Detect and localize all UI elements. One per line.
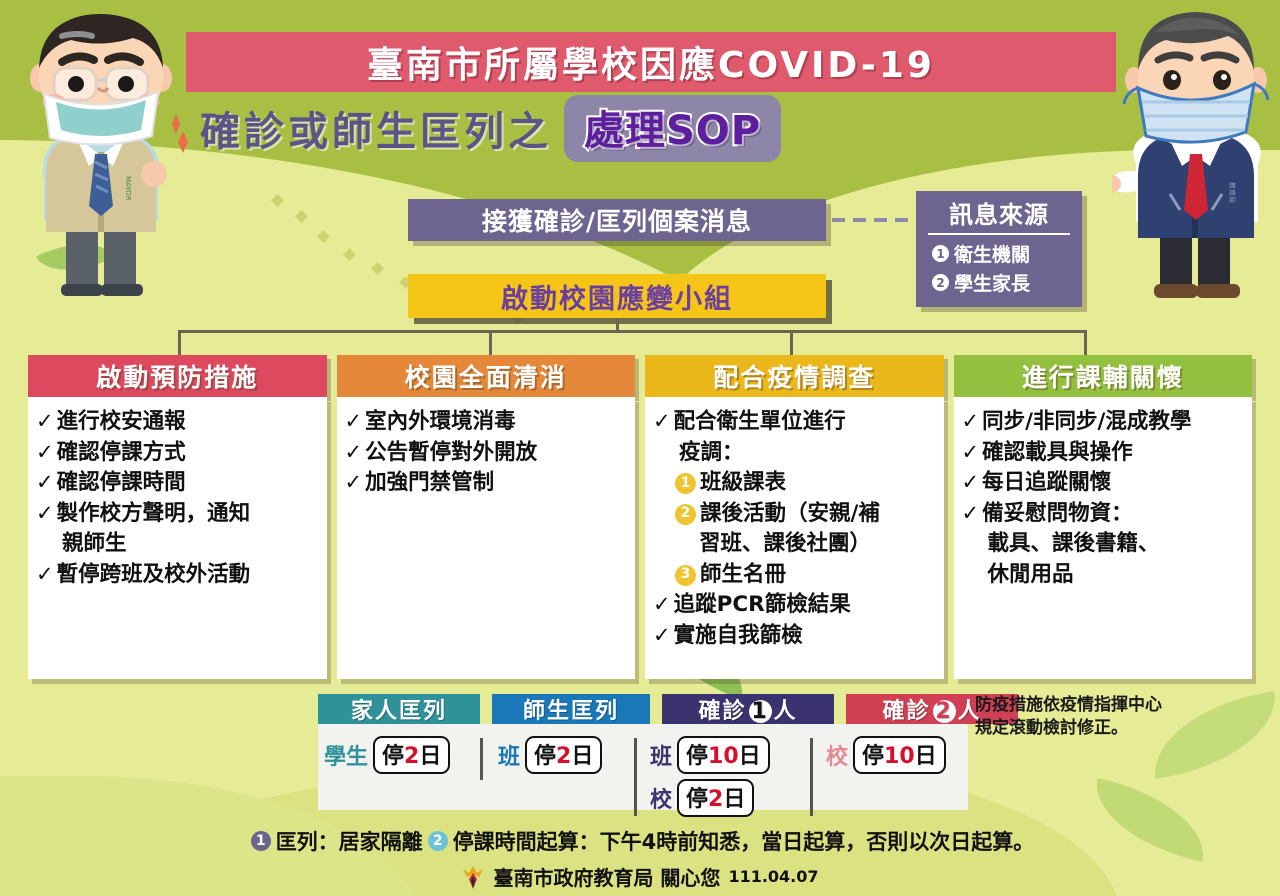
sop-column-2: 校園全面清消 ✓室內外環境消毒 ✓公告暫停對外開放 ✓加強門禁管制 [337,355,636,679]
dot-decoration [271,194,284,207]
quarantine-group-case2: 校 停10日 [826,736,946,774]
quarantine-row: 班 停2日 [498,736,602,774]
quarantine-row: 校 停10日 [826,736,946,774]
check-icon: ✓ [36,438,54,468]
dashed-connector [832,218,912,222]
sop-column-2-header-label: 校園全面清消 [405,358,567,394]
pill-prefix: 停 [862,744,884,769]
checklist-item-label: 實施自我篩檢 [674,621,803,652]
sop-column-4: 進行課輔關懷 ✓同步/非同步/混成教學 ✓確認載具與操作 ✓每日追蹤關懷 ✓備妥… [954,355,1253,679]
source-item-label: 衛生機關 [954,240,1030,267]
checklist-item: ✓每日追蹤關懷 [962,468,1247,499]
quarantine-row: 學生 停2日 [324,736,450,774]
check-icon: ✓ [653,621,671,651]
svg-text:MAYOR: MAYOR [124,176,132,201]
footer-org: 臺南市政府教育局 關心您 111.04.07 [0,862,1280,891]
check-icon: ✓ [653,590,671,620]
dash-segment [853,218,866,222]
quarantine-header-case1-label: 確診 [698,699,746,724]
checklist-item-label: 每日追蹤關懷 [982,468,1111,499]
checklist-item-label: 暫停跨班及校外活動 [57,560,251,591]
case-count-badge: 1 [749,700,772,723]
case-count-badge: 2 [933,700,956,723]
connector-vertical [790,330,793,355]
quarantine-group-case1: 班 停10日 校 停2日 [650,736,770,817]
subitem-label: 班級課表 [700,468,786,499]
quarantine-row-label: 校 [826,739,848,771]
suspension-pill: 停10日 [677,736,770,774]
quarantine-row-label: 校 [650,782,672,814]
footnote-number-2: 2 [428,831,448,851]
sop-column-3: 配合疫情調查 ✓配合衛生單位進行 疫調： 1班級課表 2課後活動（安親/補 習班… [645,355,944,679]
disclaimer-note-line: 防疫措施依疫情指揮中心 [975,694,1275,717]
checklist-item-label: 配合衛生單位進行 [674,407,846,438]
poster-root: MAYOR [0,0,1280,896]
checklist-item: ✓追蹤PCR篩檢結果 [653,590,938,621]
source-item-number: 1 [932,245,949,262]
poster-title-line1: 臺南市所屬學校因應COVID-19 [367,36,935,88]
dash-segment [832,218,845,222]
checklist-subitem: 2課後活動（安親/補 [653,499,938,530]
sop-column-4-header-label: 進行課輔關懷 [1022,358,1184,394]
flow-source-box: 訊息來源 1 衛生機關 2 學生家長 [916,191,1082,307]
suspension-pill: 停2日 [677,779,754,817]
pill-suffix: 日 [419,744,441,769]
source-divider [928,233,1070,235]
quarantine-header-case1-tail: 人 [774,699,798,724]
suspension-pill: 停10日 [853,736,946,774]
dot-decoration [295,210,308,223]
checklist-item-label: 同步/非同步/混成教學 [982,407,1191,438]
checklist-item: ✓加強門禁管制 [345,468,630,499]
checklist-item: ✓公告暫停對外開放 [345,438,630,469]
connector-horizontal [178,330,1086,333]
quarantine-table: 家人匡列 師生匡列 確診1人 確診2人 學生 停2日 班 停2日 [318,694,968,810]
subitem-number: 3 [675,565,696,586]
pill-prefix: 停 [534,744,556,769]
sop-column-3-header: 配合疫情調查 [645,355,944,397]
poster-title-banner: 臺南市所屬學校因應COVID-19 [186,32,1116,92]
checklist-item-label: 備妥慰問物資： [982,499,1133,530]
checklist-item-continuation: 親師生 [36,529,321,560]
checklist-item-label: 室內外環境消毒 [365,407,516,438]
quarantine-header-case2-label: 確診 [882,699,930,724]
pill-value: 2 [404,744,419,769]
flow-source-title: 訊息來源 [916,195,1082,233]
sop-column-2-body: ✓室內外環境消毒 ✓公告暫停對外開放 ✓加強門禁管制 [337,397,636,679]
table-divider [480,738,483,780]
sop-column-3-header-label: 配合疫情調查 [713,358,875,394]
check-icon: ✓ [36,499,54,529]
check-icon: ✓ [962,407,980,437]
source-item-label: 學生家長 [954,269,1030,296]
checklist-item-label: 追蹤PCR篩檢結果 [674,590,851,621]
checklist-item-continuation: 疫調： [653,438,938,469]
footer-notes: 1 匡列：居家隔離 2 停課時間起算：下午4時前知悉，當日起算，否則以次日起算。 [0,826,1280,856]
checklist-item-label: 確認停課方式 [57,438,186,469]
poster-title-line2: 確診或師生匡列之 [200,99,552,157]
checklist-item-label: 公告暫停對外開放 [365,438,537,469]
quarantine-row-label: 班 [498,739,520,771]
checklist-item: ✓備妥慰問物資： [962,499,1247,530]
connector-vertical [489,330,492,355]
checklist-item: ✓確認停課時間 [36,468,321,499]
check-icon: ✓ [653,407,671,437]
checklist-item-label: 確認載具與操作 [982,438,1133,469]
disclaimer-note-line: 規定滾動檢討修正。 [975,717,1275,740]
source-item: 2 學生家長 [916,268,1082,297]
check-icon: ✓ [36,407,54,437]
dot-decoration [371,262,384,275]
pill-suffix: 日 [723,787,745,812]
subitem-number: 2 [675,504,696,525]
poster-subtitle-row: 確診或師生匡列之 處理SOP [186,96,1116,160]
checklist-item: ✓製作校方聲明，通知 [36,499,321,530]
quarantine-row-label: 班 [650,739,672,771]
checklist-item: ✓室內外環境消毒 [345,407,630,438]
mayor-character-illustration: MAYOR [6,6,196,296]
check-icon: ✓ [345,407,363,437]
pill-suffix: 日 [915,744,937,769]
checklist-item: ✓同步/非同步/混成教學 [962,407,1247,438]
checklist-item: ✓進行校安通報 [36,407,321,438]
check-icon: ✓ [345,438,363,468]
sop-column-3-body: ✓配合衛生單位進行 疫調： 1班級課表 2課後活動（安親/補 習班、課後社團） … [645,397,944,679]
pill-prefix: 停 [686,787,708,812]
connector-team-stem [616,318,619,332]
disclaimer-note: 防疫措施依疫情指揮中心規定滾動檢討修正。 [975,694,1275,740]
footer-date: 111.04.07 [728,867,818,886]
sop-badge-label: 處理SOP [584,98,761,156]
checklist-item-label: 加強門禁管制 [365,468,494,499]
suspension-pill: 停2日 [525,736,602,774]
flow-team-label: 啟動校園應變小組 [501,277,733,316]
pill-suffix: 日 [571,744,593,769]
footnote-text-2: 停課時間起算：下午4時前知悉，當日起算，否則以次日起算。 [453,826,1035,856]
quarantine-group-family: 學生 停2日 [324,736,450,774]
quarantine-header-family: 家人匡列 [318,694,480,724]
tainan-city-logo-icon [461,864,485,890]
dash-segment [874,218,887,222]
quarantine-header-staff: 師生匡列 [492,694,650,724]
pill-prefix: 停 [686,744,708,769]
subitem-label: 課後活動（安親/補 [700,499,880,530]
flow-receive-label: 接獲確診/匡列個案消息 [482,202,752,238]
sop-column-1-header-label: 啟動預防措施 [96,358,258,394]
dot-decoration [317,230,330,243]
quarantine-row-label: 學生 [324,739,368,771]
table-divider [634,738,637,816]
check-icon: ✓ [36,560,54,590]
quarantine-header-staff-label: 師生匡列 [523,693,619,725]
check-icon: ✓ [345,468,363,498]
checklist-item-continuation: 載具、課後書籍、 [962,529,1247,560]
quarantine-group-staff: 班 停2日 [498,736,602,774]
checklist-item: ✓實施自我篩檢 [653,621,938,652]
pill-value: 10 [884,744,915,769]
quarantine-row: 班 停10日 [650,736,770,774]
flow-team-box: 啟動校園應變小組 [408,274,826,318]
sop-column-2-header: 校園全面清消 [337,355,636,397]
subitem-continuation: 習班、課後社團） [653,529,938,560]
check-icon: ✓ [962,499,980,529]
suspension-pill: 停2日 [373,736,450,774]
checklist-item: ✓配合衛生單位進行 [653,407,938,438]
checklist-item-label: 製作校方聲明，通知 [57,499,251,530]
check-icon: ✓ [36,468,54,498]
footer-org-label: 臺南市政府教育局 關心您 [493,862,720,891]
checklist-item: ✓確認載具與操作 [962,438,1247,469]
education-officer-character-illustration: 教育局 [1112,4,1280,304]
sop-badge: 處理SOP [564,95,781,162]
footnote-text-1: 匡列：居家隔離 [276,826,423,856]
sop-column-4-header: 進行課輔關懷 [954,355,1253,397]
checklist-item: ✓暫停跨班及校外活動 [36,560,321,591]
quarantine-header-family-label: 家人匡列 [351,693,447,725]
subitem-number: 1 [675,473,696,494]
source-item-number: 2 [932,274,949,291]
flow-receive-box: 接獲確診/匡列個案消息 [408,199,826,241]
table-divider [810,738,813,816]
checklist-item-label: 確認停課時間 [57,468,186,499]
quarantine-header-case1: 確診1人 [662,694,834,724]
svg-text:教育局: 教育局 [1228,182,1237,203]
subitem-label: 師生名冊 [700,560,786,591]
checklist-item: ✓確認停課方式 [36,438,321,469]
pill-value: 2 [556,744,571,769]
checklist-item-label: 進行校安通報 [57,407,186,438]
pill-suffix: 日 [739,744,761,769]
dot-decoration [343,248,356,261]
checklist-subitem: 3師生名冊 [653,560,938,591]
quarantine-row: 校 停2日 [650,779,770,817]
sop-column-1: 啟動預防措施 ✓進行校安通報 ✓確認停課方式 ✓確認停課時間 ✓製作校方聲明，通… [28,355,327,679]
sop-columns: 啟動預防措施 ✓進行校安通報 ✓確認停課方式 ✓確認停課時間 ✓製作校方聲明，通… [28,355,1252,679]
connector-vertical [1084,330,1087,355]
quarantine-table-headers: 家人匡列 師生匡列 確診1人 確診2人 [318,694,1030,724]
checklist-subitem: 1班級課表 [653,468,938,499]
dash-segment [895,218,908,222]
checklist-item-continuation: 休閒用品 [962,560,1247,591]
check-icon: ✓ [962,438,980,468]
pill-value: 2 [708,787,723,812]
pill-value: 10 [708,744,739,769]
connector-vertical [178,330,181,355]
pill-prefix: 停 [382,744,404,769]
footnote-number-1: 1 [251,831,271,851]
sop-column-1-header: 啟動預防措施 [28,355,327,397]
source-item: 1 衛生機關 [916,239,1082,268]
sop-column-4-body: ✓同步/非同步/混成教學 ✓確認載具與操作 ✓每日追蹤關懷 ✓備妥慰問物資： 載… [954,397,1253,679]
check-icon: ✓ [962,468,980,498]
sop-column-1-body: ✓進行校安通報 ✓確認停課方式 ✓確認停課時間 ✓製作校方聲明，通知 親師生 ✓… [28,397,327,679]
